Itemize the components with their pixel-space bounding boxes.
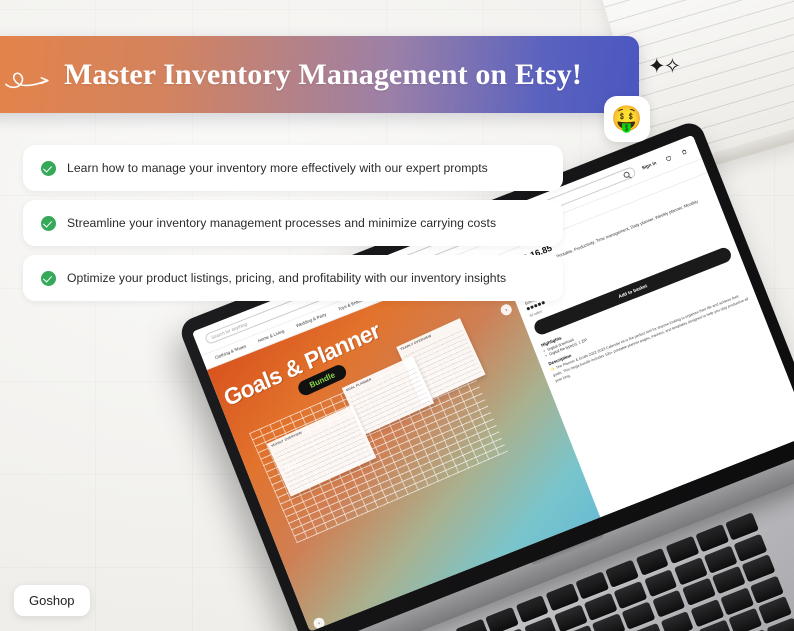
benefit-card: Streamline your inventory management pro… [23, 200, 563, 246]
sign-in-link[interactable]: Sign in [641, 160, 657, 170]
check-circle-icon [41, 271, 56, 286]
emoji-badge: 🤑 [604, 96, 650, 142]
chevron-left-icon[interactable]: ‹ [312, 616, 326, 630]
chevron-right-icon[interactable]: › [499, 303, 513, 317]
heart-icon[interactable] [663, 153, 673, 163]
page-title: Master Inventory Management on Etsy! [64, 58, 582, 92]
sparkle-icon: ✦✧ [648, 56, 679, 77]
benefit-card: Learn how to manage your inventory more … [23, 145, 563, 191]
swirl-arrow-icon [4, 58, 60, 92]
benefits-list: Learn how to manage your inventory more … [23, 145, 563, 301]
cart-icon[interactable] [679, 146, 689, 156]
check-circle-icon [41, 161, 56, 176]
benefit-text: Streamline your inventory management pro… [67, 216, 496, 230]
benefit-text: Learn how to manage your inventory more … [67, 161, 488, 175]
benefit-text: Optimize your product listings, pricing,… [67, 271, 506, 285]
goshop-watermark: Goshop [14, 585, 90, 616]
bullet-dot: • [545, 354, 548, 358]
search-placeholder: Search for anything [211, 322, 248, 341]
magnifier-icon [623, 171, 631, 179]
bullet-dot: • [543, 349, 546, 353]
check-circle-icon [41, 216, 56, 231]
headline-banner: Master Inventory Management on Etsy! [0, 36, 639, 113]
benefit-card: Optimize your product listings, pricing,… [23, 255, 563, 301]
